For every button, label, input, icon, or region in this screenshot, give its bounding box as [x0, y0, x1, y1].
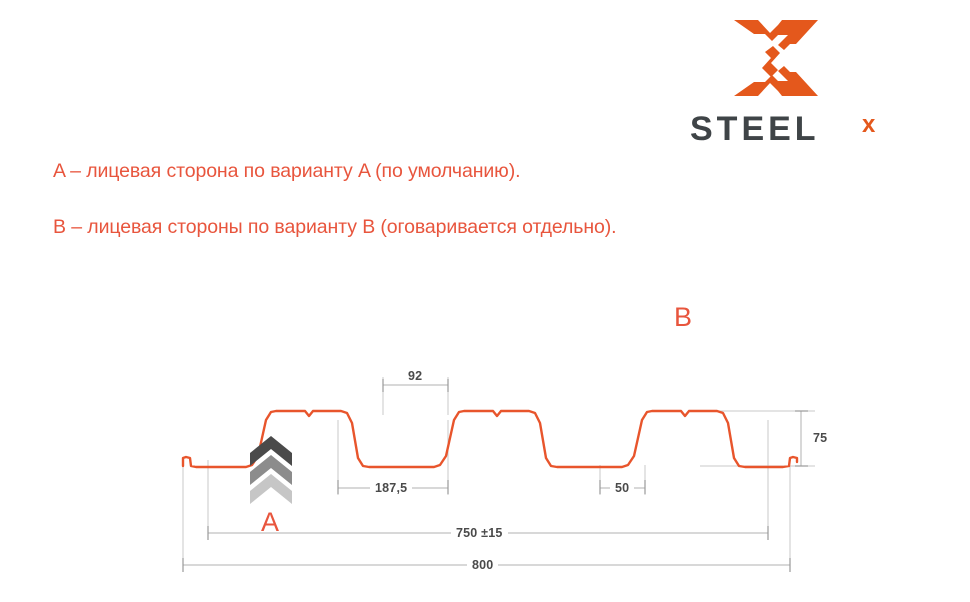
- note-variant-b: B – лицевая стороны по варианту B (огова…: [53, 216, 616, 239]
- marker-letter-a: A: [261, 507, 279, 538]
- wordmark-x-superscript: x: [862, 111, 876, 138]
- dim-label-rib-top-width: 92: [403, 369, 427, 383]
- dim-label-rib-pitch: 187,5: [370, 481, 412, 495]
- brand-wordmark: STEEL x: [690, 108, 910, 150]
- steelx-x-logo-mark: [732, 16, 820, 100]
- dim-label-valley-width: 50: [610, 481, 634, 495]
- wordmark-steel: STEEL: [690, 110, 820, 148]
- marker-a-chevrons: [250, 436, 292, 504]
- brand-logo: STEEL x: [690, 16, 910, 146]
- profile-drawing: 92 187,5 50 75 750 ±15 800 A B: [0, 280, 970, 597]
- marker-letter-b: B: [674, 302, 692, 333]
- dim-label-profile-height: 75: [808, 431, 832, 445]
- dim-label-overall-width: 800: [467, 558, 498, 572]
- note-variant-a: A – лицевая сторона по варианту A (по ум…: [53, 160, 520, 183]
- dimension-ticks: [183, 379, 808, 572]
- dim-label-effective-width: 750 ±15: [451, 526, 508, 540]
